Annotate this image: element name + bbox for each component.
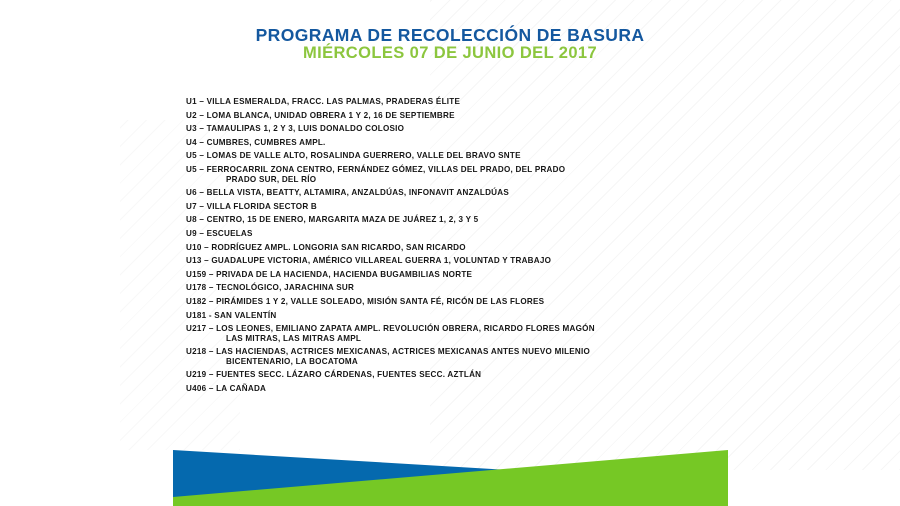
route-label: U3 – TAMAULIPAS 1, 2 Y 3, LUIS DONALDO C… (186, 124, 746, 134)
route-label: U1 – VILLA ESMERALDA, FRACC. LAS PALMAS,… (186, 97, 746, 107)
route-item: U5 – LOMAS DE VALLE ALTO, ROSALINDA GUER… (186, 151, 746, 161)
route-item: U7 – VILLA FLORIDA SECTOR B (186, 202, 746, 212)
footer-green-triangle (173, 450, 728, 506)
route-label: U6 – BELLA VISTA, BEATTY, ALTAMIRA, ANZA… (186, 188, 746, 198)
route-item: U219 – FUENTES SECC. LÁZARO CÁRDENAS, FU… (186, 370, 746, 380)
route-label: U2 – LOMA BLANCA, UNIDAD OBRERA 1 Y 2, 1… (186, 111, 746, 121)
route-label-continuation: LAS MITRAS, LAS MITRAS AMPL (186, 334, 746, 344)
route-item: U8 – CENTRO, 15 DE ENERO, MARGARITA MAZA… (186, 215, 746, 225)
route-label: U159 – PRIVADA DE LA HACIENDA, HACIENDA … (186, 270, 746, 280)
route-item: U218 – LAS HACIENDAS, ACTRICES MEXICANAS… (186, 347, 746, 366)
footer-blue-triangle (173, 450, 728, 506)
route-label: U178 – TECNOLÓGICO, JARACHINA SUR (186, 283, 746, 293)
page-subtitle-date: MIÉRCOLES 07 DE JUNIO DEL 2017 (0, 45, 900, 62)
route-label: U219 – FUENTES SECC. LÁZARO CÁRDENAS, FU… (186, 370, 746, 380)
route-item: U217 – LOS LEONES, EMILIANO ZAPATA AMPL.… (186, 324, 746, 343)
route-label: U5 – LOMAS DE VALLE ALTO, ROSALINDA GUER… (186, 151, 746, 161)
route-item: U4 – CUMBRES, CUMBRES AMPL. (186, 138, 746, 148)
page-title: PROGRAMA DE RECOLECCIÓN DE BASURA (0, 26, 900, 44)
route-label-continuation: BICENTENARIO, LA BOCATOMA (186, 357, 746, 367)
route-item: U159 – PRIVADA DE LA HACIENDA, HACIENDA … (186, 270, 746, 280)
route-label: U182 – PIRÁMIDES 1 Y 2, VALLE SOLEADO, M… (186, 297, 746, 307)
route-item: U6 – BELLA VISTA, BEATTY, ALTAMIRA, ANZA… (186, 188, 746, 198)
route-list: U1 – VILLA ESMERALDA, FRACC. LAS PALMAS,… (186, 97, 746, 398)
route-item: U5 – FERROCARRIL ZONA CENTRO, FERNÁNDEZ … (186, 165, 746, 184)
route-label: U181 - SAN VALENTÍN (186, 311, 746, 321)
route-item: U3 – TAMAULIPAS 1, 2 Y 3, LUIS DONALDO C… (186, 124, 746, 134)
route-label: U5 – FERROCARRIL ZONA CENTRO, FERNÁNDEZ … (186, 165, 746, 175)
route-label-continuation: PRADO SUR, DEL RÍO (186, 175, 746, 185)
route-label: U218 – LAS HACIENDAS, ACTRICES MEXICANAS… (186, 347, 746, 357)
route-item: U2 – LOMA BLANCA, UNIDAD OBRERA 1 Y 2, 1… (186, 111, 746, 121)
route-item: U9 – ESCUELAS (186, 229, 746, 239)
route-label: U10 – RODRÍGUEZ AMPL. LONGORIA SAN RICAR… (186, 243, 746, 253)
route-label: U217 – LOS LEONES, EMILIANO ZAPATA AMPL.… (186, 324, 746, 334)
route-label: U9 – ESCUELAS (186, 229, 746, 239)
slide-canvas: PROGRAMA DE RECOLECCIÓN DE BASURA MIÉRCO… (0, 0, 900, 506)
route-item: U178 – TECNOLÓGICO, JARACHINA SUR (186, 283, 746, 293)
route-item: U181 - SAN VALENTÍN (186, 311, 746, 321)
route-item: U182 – PIRÁMIDES 1 Y 2, VALLE SOLEADO, M… (186, 297, 746, 307)
route-item: U10 – RODRÍGUEZ AMPL. LONGORIA SAN RICAR… (186, 243, 746, 253)
route-item: U406 – LA CAÑADA (186, 384, 746, 394)
route-label: U13 – GUADALUPE VICTORIA, AMÉRICO VILLAR… (186, 256, 746, 266)
route-label: U4 – CUMBRES, CUMBRES AMPL. (186, 138, 746, 148)
route-item: U1 – VILLA ESMERALDA, FRACC. LAS PALMAS,… (186, 97, 746, 107)
route-label: U406 – LA CAÑADA (186, 384, 746, 394)
route-item: U13 – GUADALUPE VICTORIA, AMÉRICO VILLAR… (186, 256, 746, 266)
slide-header: PROGRAMA DE RECOLECCIÓN DE BASURA MIÉRCO… (0, 26, 900, 63)
route-label: U7 – VILLA FLORIDA SECTOR B (186, 202, 746, 212)
route-label: U8 – CENTRO, 15 DE ENERO, MARGARITA MAZA… (186, 215, 746, 225)
